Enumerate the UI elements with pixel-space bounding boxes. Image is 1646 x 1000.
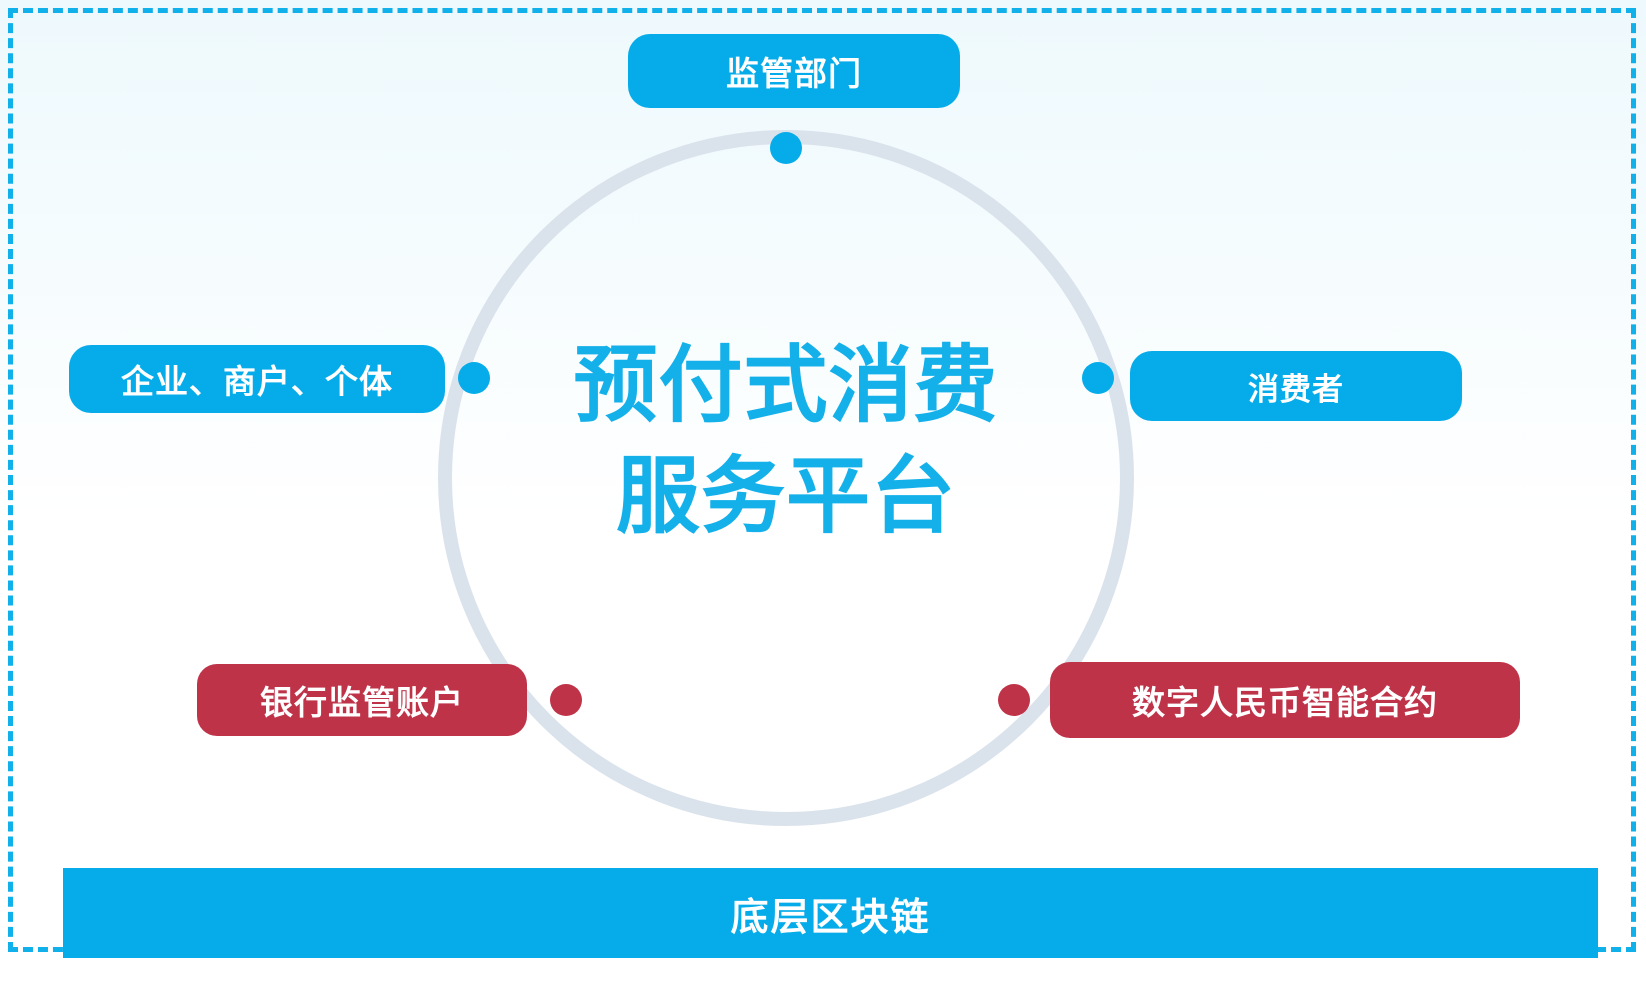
node-label-regulator-text: 监管部门 (726, 47, 862, 95)
node-label-enterprise[interactable]: 企业、商户、个体 (69, 345, 445, 413)
node-dot-enterprise (458, 362, 490, 394)
node-label-contract[interactable]: 数字人民币智能合约 (1050, 662, 1520, 738)
center-title-line-2: 服务平台 (536, 441, 1036, 552)
foundation-bar[interactable]: 底层区块链 (63, 868, 1598, 958)
node-label-bank[interactable]: 银行监管账户 (197, 664, 527, 736)
page-title: 预付式消费 服务平台 (536, 330, 1036, 552)
node-label-bank-text: 银行监管账户 (260, 676, 464, 724)
node-dot-bank (550, 684, 582, 716)
node-dot-contract (998, 684, 1030, 716)
foundation-bar-label: 底层区块链 (730, 886, 930, 941)
node-dot-consumer (1082, 362, 1114, 394)
node-label-contract-text: 数字人民币智能合约 (1132, 676, 1438, 724)
node-dot-regulator (770, 132, 802, 164)
diagram-canvas: 预付式消费 服务平台 监管部门 企业、商户、个体 消费者 银行监管账户 数字人民… (0, 0, 1646, 1000)
node-label-consumer[interactable]: 消费者 (1130, 351, 1462, 421)
node-label-regulator[interactable]: 监管部门 (628, 34, 960, 108)
node-label-consumer-text: 消费者 (1248, 364, 1344, 409)
node-label-enterprise-text: 企业、商户、个体 (121, 355, 393, 403)
center-title-line-1: 预付式消费 (536, 330, 1036, 441)
